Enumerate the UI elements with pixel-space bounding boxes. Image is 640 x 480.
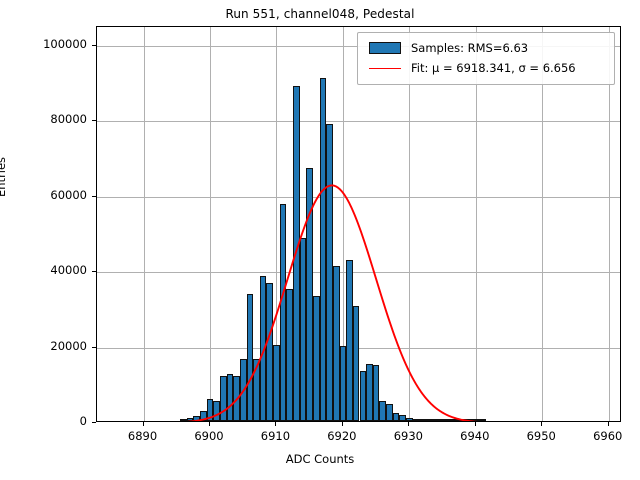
- x-tick-mark: [541, 422, 542, 426]
- y-tick-label: 0: [10, 414, 87, 428]
- y-tick-label: 40000: [10, 263, 87, 277]
- x-tick-label: 6940: [445, 429, 505, 443]
- x-tick-label: 6950: [511, 429, 571, 443]
- legend-item-fit: Fit: μ = 6918.341, σ = 6.656: [366, 58, 606, 78]
- x-tick-mark: [143, 422, 144, 426]
- x-tick-mark: [275, 422, 276, 426]
- legend-label-fit: Fit: μ = 6918.341, σ = 6.656: [411, 61, 576, 75]
- fit-curve-line: [104, 185, 543, 422]
- x-tick-mark: [608, 422, 609, 426]
- y-axis-label: Entries: [0, 157, 8, 197]
- chart-figure: Run 551, channel048, Pedestal 0200004000…: [0, 0, 640, 480]
- x-tick-label: 6920: [312, 429, 372, 443]
- x-tick-label: 6910: [245, 429, 305, 443]
- x-tick-label: 6900: [179, 429, 239, 443]
- y-tick-mark: [92, 422, 96, 423]
- legend-swatch-samples: [366, 40, 404, 56]
- legend-swatch-fit: [366, 60, 404, 76]
- x-tick-label: 6930: [378, 429, 438, 443]
- y-tick-mark: [92, 196, 96, 197]
- chart-legend: Samples: RMS=6.63 Fit: μ = 6918.341, σ =…: [357, 32, 615, 85]
- y-tick-mark: [92, 347, 96, 348]
- legend-item-samples: Samples: RMS=6.63: [366, 38, 606, 58]
- y-tick-label: 80000: [10, 112, 87, 126]
- x-tick-mark: [209, 422, 210, 426]
- fit-curve-svg: [97, 27, 620, 421]
- y-tick-mark: [92, 120, 96, 121]
- x-tick-label: 6960: [578, 429, 638, 443]
- legend-label-samples: Samples: RMS=6.63: [411, 41, 528, 55]
- y-tick-label: 20000: [10, 339, 87, 353]
- y-tick-mark: [92, 45, 96, 46]
- x-tick-mark: [408, 422, 409, 426]
- x-tick-label: 6890: [113, 429, 173, 443]
- y-tick-label: 60000: [10, 188, 87, 202]
- chart-title: Run 551, channel048, Pedestal: [0, 7, 640, 21]
- x-tick-mark: [475, 422, 476, 426]
- x-tick-mark: [342, 422, 343, 426]
- y-tick-label: 100000: [10, 37, 87, 51]
- y-tick-mark: [92, 271, 96, 272]
- plot-area: [96, 26, 621, 422]
- x-axis-label: ADC Counts: [0, 452, 640, 466]
